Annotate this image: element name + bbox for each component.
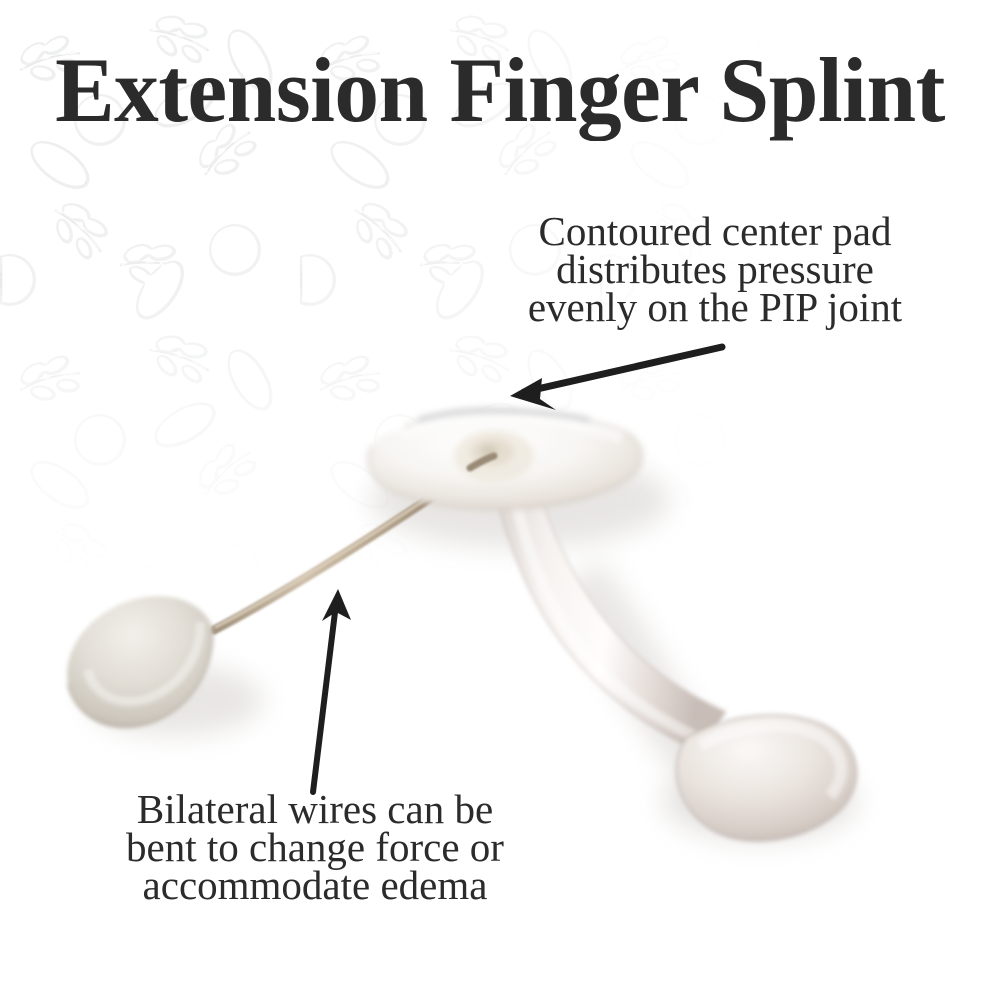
page-title: Extension Finger Splint — [15, 44, 985, 136]
callout-center-pad-line-2: distributes pressure — [455, 250, 975, 288]
callout-center-pad-line-1: Contoured center pad — [455, 212, 975, 250]
product-infographic: Extension Finger Splint Contoured center… — [0, 0, 1000, 1000]
callout-bilateral-wires: Bilateral wires can be bent to change fo… — [55, 790, 575, 904]
callout-bilateral-wires-line-1: Bilateral wires can be — [55, 790, 575, 828]
callout-bilateral-wires-line-3: accommodate edema — [55, 866, 575, 904]
callout-center-pad: Contoured center pad distributes pressur… — [455, 212, 975, 326]
callout-center-pad-line-3: evenly on the PIP joint — [455, 288, 975, 326]
callout-bilateral-wires-line-2: bent to change force or — [55, 828, 575, 866]
